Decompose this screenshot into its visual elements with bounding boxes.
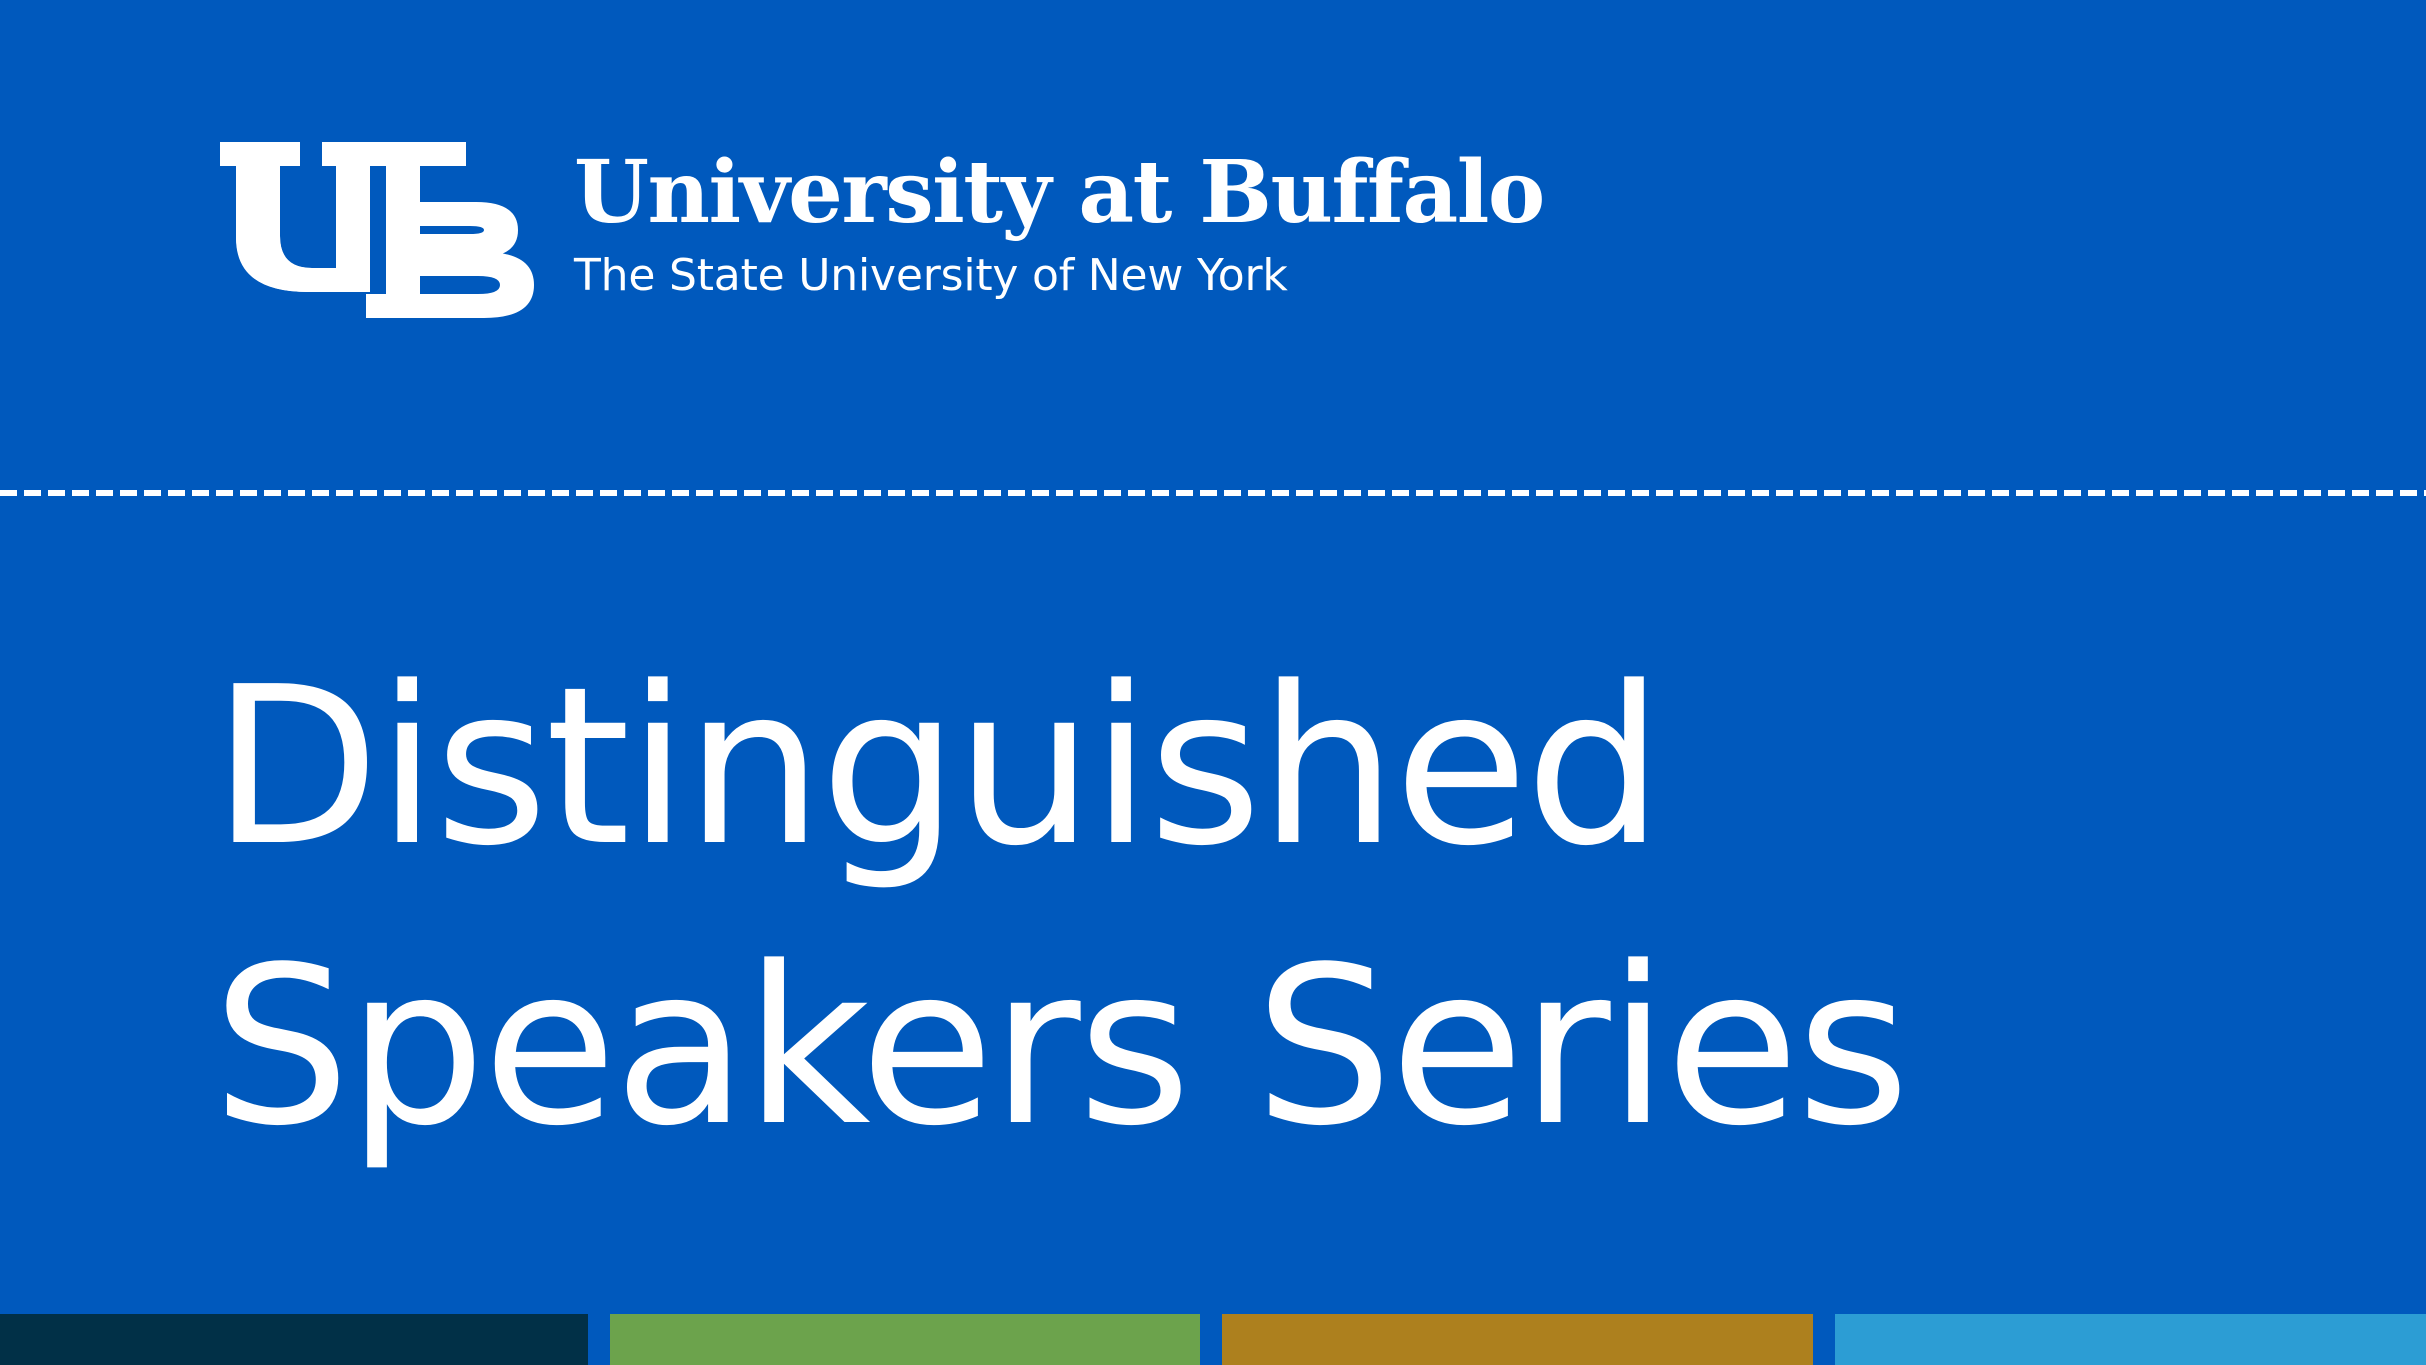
footer-bar-navy bbox=[0, 1314, 588, 1365]
footer-bar-gap bbox=[1813, 1314, 1835, 1365]
page-title: Distinguished Speakers Series bbox=[212, 628, 2112, 1188]
logo-text-block: University at Buffalo The State Universi… bbox=[574, 140, 1544, 298]
footer-bar-gold bbox=[1222, 1314, 1813, 1365]
footer-bar-lightblue bbox=[1835, 1314, 2426, 1365]
page-title-line-1: Distinguished bbox=[212, 628, 2112, 908]
ub-interlocking-monogram-icon bbox=[218, 140, 548, 320]
page-title-line-2: Speakers Series bbox=[212, 908, 2112, 1188]
university-tagline: The State University of New York bbox=[574, 254, 1544, 298]
footer-bar-gap bbox=[588, 1314, 610, 1365]
university-wordmark: University at Buffalo bbox=[574, 150, 1544, 236]
dashed-divider bbox=[0, 490, 2426, 496]
ub-logo-lockup: University at Buffalo The State Universi… bbox=[218, 140, 1544, 320]
footer-color-bars bbox=[0, 1314, 2426, 1365]
presentation-slide: University at Buffalo The State Universi… bbox=[0, 0, 2426, 1365]
footer-bar-gap bbox=[1200, 1314, 1222, 1365]
footer-bar-green bbox=[610, 1314, 1200, 1365]
